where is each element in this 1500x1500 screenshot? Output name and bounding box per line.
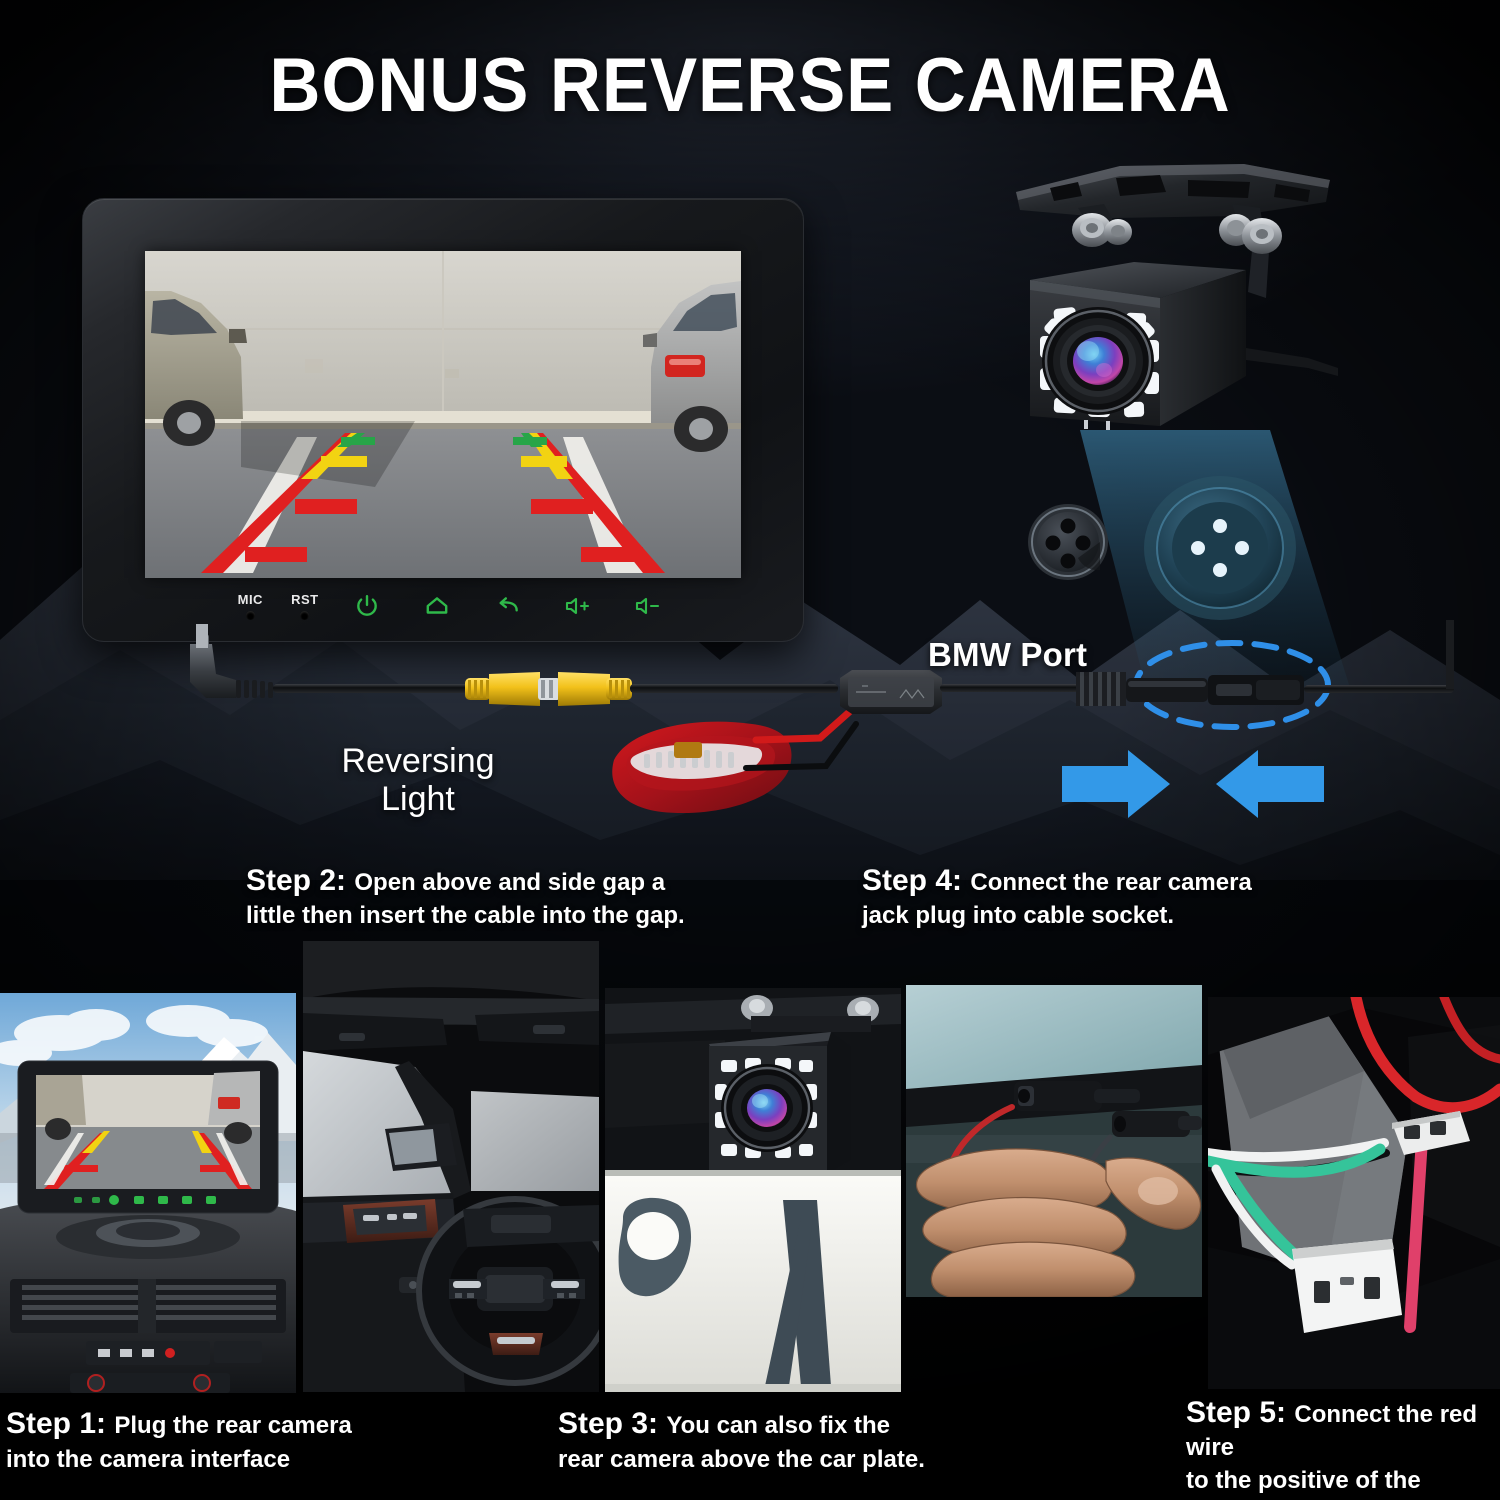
home-icon — [424, 593, 450, 619]
step-2-number: Step 2 — [246, 864, 336, 897]
rear-camera-view — [145, 251, 741, 578]
rst-label: RST — [291, 592, 319, 607]
reversing-light-line2: Light — [318, 780, 518, 818]
step-3-sep: : — [648, 1407, 666, 1440]
reversing-light-label: Reversing Light — [318, 742, 518, 818]
back-button[interactable] — [473, 593, 543, 619]
step-2-line2: little then insert the cable into the ga… — [246, 902, 685, 929]
step-3-line1: You can also fix the — [666, 1412, 890, 1439]
step-2-caption: Step 2: Open above and side gap a little… — [246, 866, 716, 934]
volume-up-icon — [564, 594, 592, 618]
step-4-line1: Connect the rear camera — [970, 869, 1251, 896]
step-5-line2: to the positive of the Positive — [1186, 1467, 1421, 1500]
monitor-screen — [145, 251, 741, 578]
power-button[interactable] — [332, 593, 402, 619]
photo-step-5 — [1208, 997, 1500, 1389]
step-4-line2: jack plug into cable socket. — [862, 902, 1174, 929]
step-1-caption: Step 1: Plug the rear camera into the ca… — [6, 1408, 356, 1478]
monitor-device: MIC RST — [82, 198, 804, 642]
rear-camera-product — [1008, 158, 1338, 468]
home-button[interactable] — [402, 593, 472, 619]
photo-step-3 — [605, 988, 901, 1392]
rst-button[interactable]: RST — [278, 592, 333, 620]
step-5-number: Step 5 — [1186, 1396, 1276, 1429]
step-5-caption: Step 5: Connect the red wire to the posi… — [1186, 1398, 1496, 1500]
step-5-sep: : — [1276, 1396, 1294, 1429]
mic-label: MIC — [238, 592, 263, 607]
step-2-sep: : — [336, 864, 354, 897]
mic-button[interactable]: MIC — [223, 592, 278, 620]
volume-down-button[interactable] — [613, 594, 683, 618]
photo-step-4 — [906, 985, 1202, 1297]
photo-step-2 — [303, 941, 599, 1392]
volume-up-button[interactable] — [543, 594, 613, 618]
connection-arrows — [1058, 738, 1328, 830]
step-4-caption: Step 4: Connect the rear camera jack plu… — [862, 866, 1292, 934]
step-1-line2: into the camera interface — [6, 1446, 290, 1473]
step-1-number: Step 1 — [6, 1407, 96, 1440]
reversing-light-line1: Reversing — [318, 742, 518, 780]
step-2-line1: Open above and side gap a — [354, 869, 665, 896]
arrow-right-icon — [1062, 750, 1170, 818]
mic-hole-icon — [246, 611, 255, 620]
step-1-line1: Plug the rear camera — [114, 1412, 351, 1439]
back-icon — [495, 593, 521, 619]
step-3-line2: rear camera above the car plate. — [558, 1446, 925, 1473]
step-1-sep: : — [96, 1407, 114, 1440]
rst-hole-icon — [300, 611, 309, 620]
infographic-canvas: BONUS REVERSE CAMERA — [0, 0, 1500, 1500]
power-icon — [354, 593, 380, 619]
arrow-left-icon — [1216, 750, 1324, 818]
step-4-number: Step 4 — [862, 864, 952, 897]
page-title: BONUS REVERSE CAMERA — [53, 42, 1448, 129]
bmw-port-label: BMW Port — [928, 636, 1087, 674]
photo-step-1 — [0, 993, 296, 1393]
step-3-number: Step 3 — [558, 1407, 648, 1440]
volume-down-icon — [634, 594, 662, 618]
step-3-caption: Step 3: You can also fix the rear camera… — [558, 1408, 958, 1478]
step-4-sep: : — [952, 864, 970, 897]
